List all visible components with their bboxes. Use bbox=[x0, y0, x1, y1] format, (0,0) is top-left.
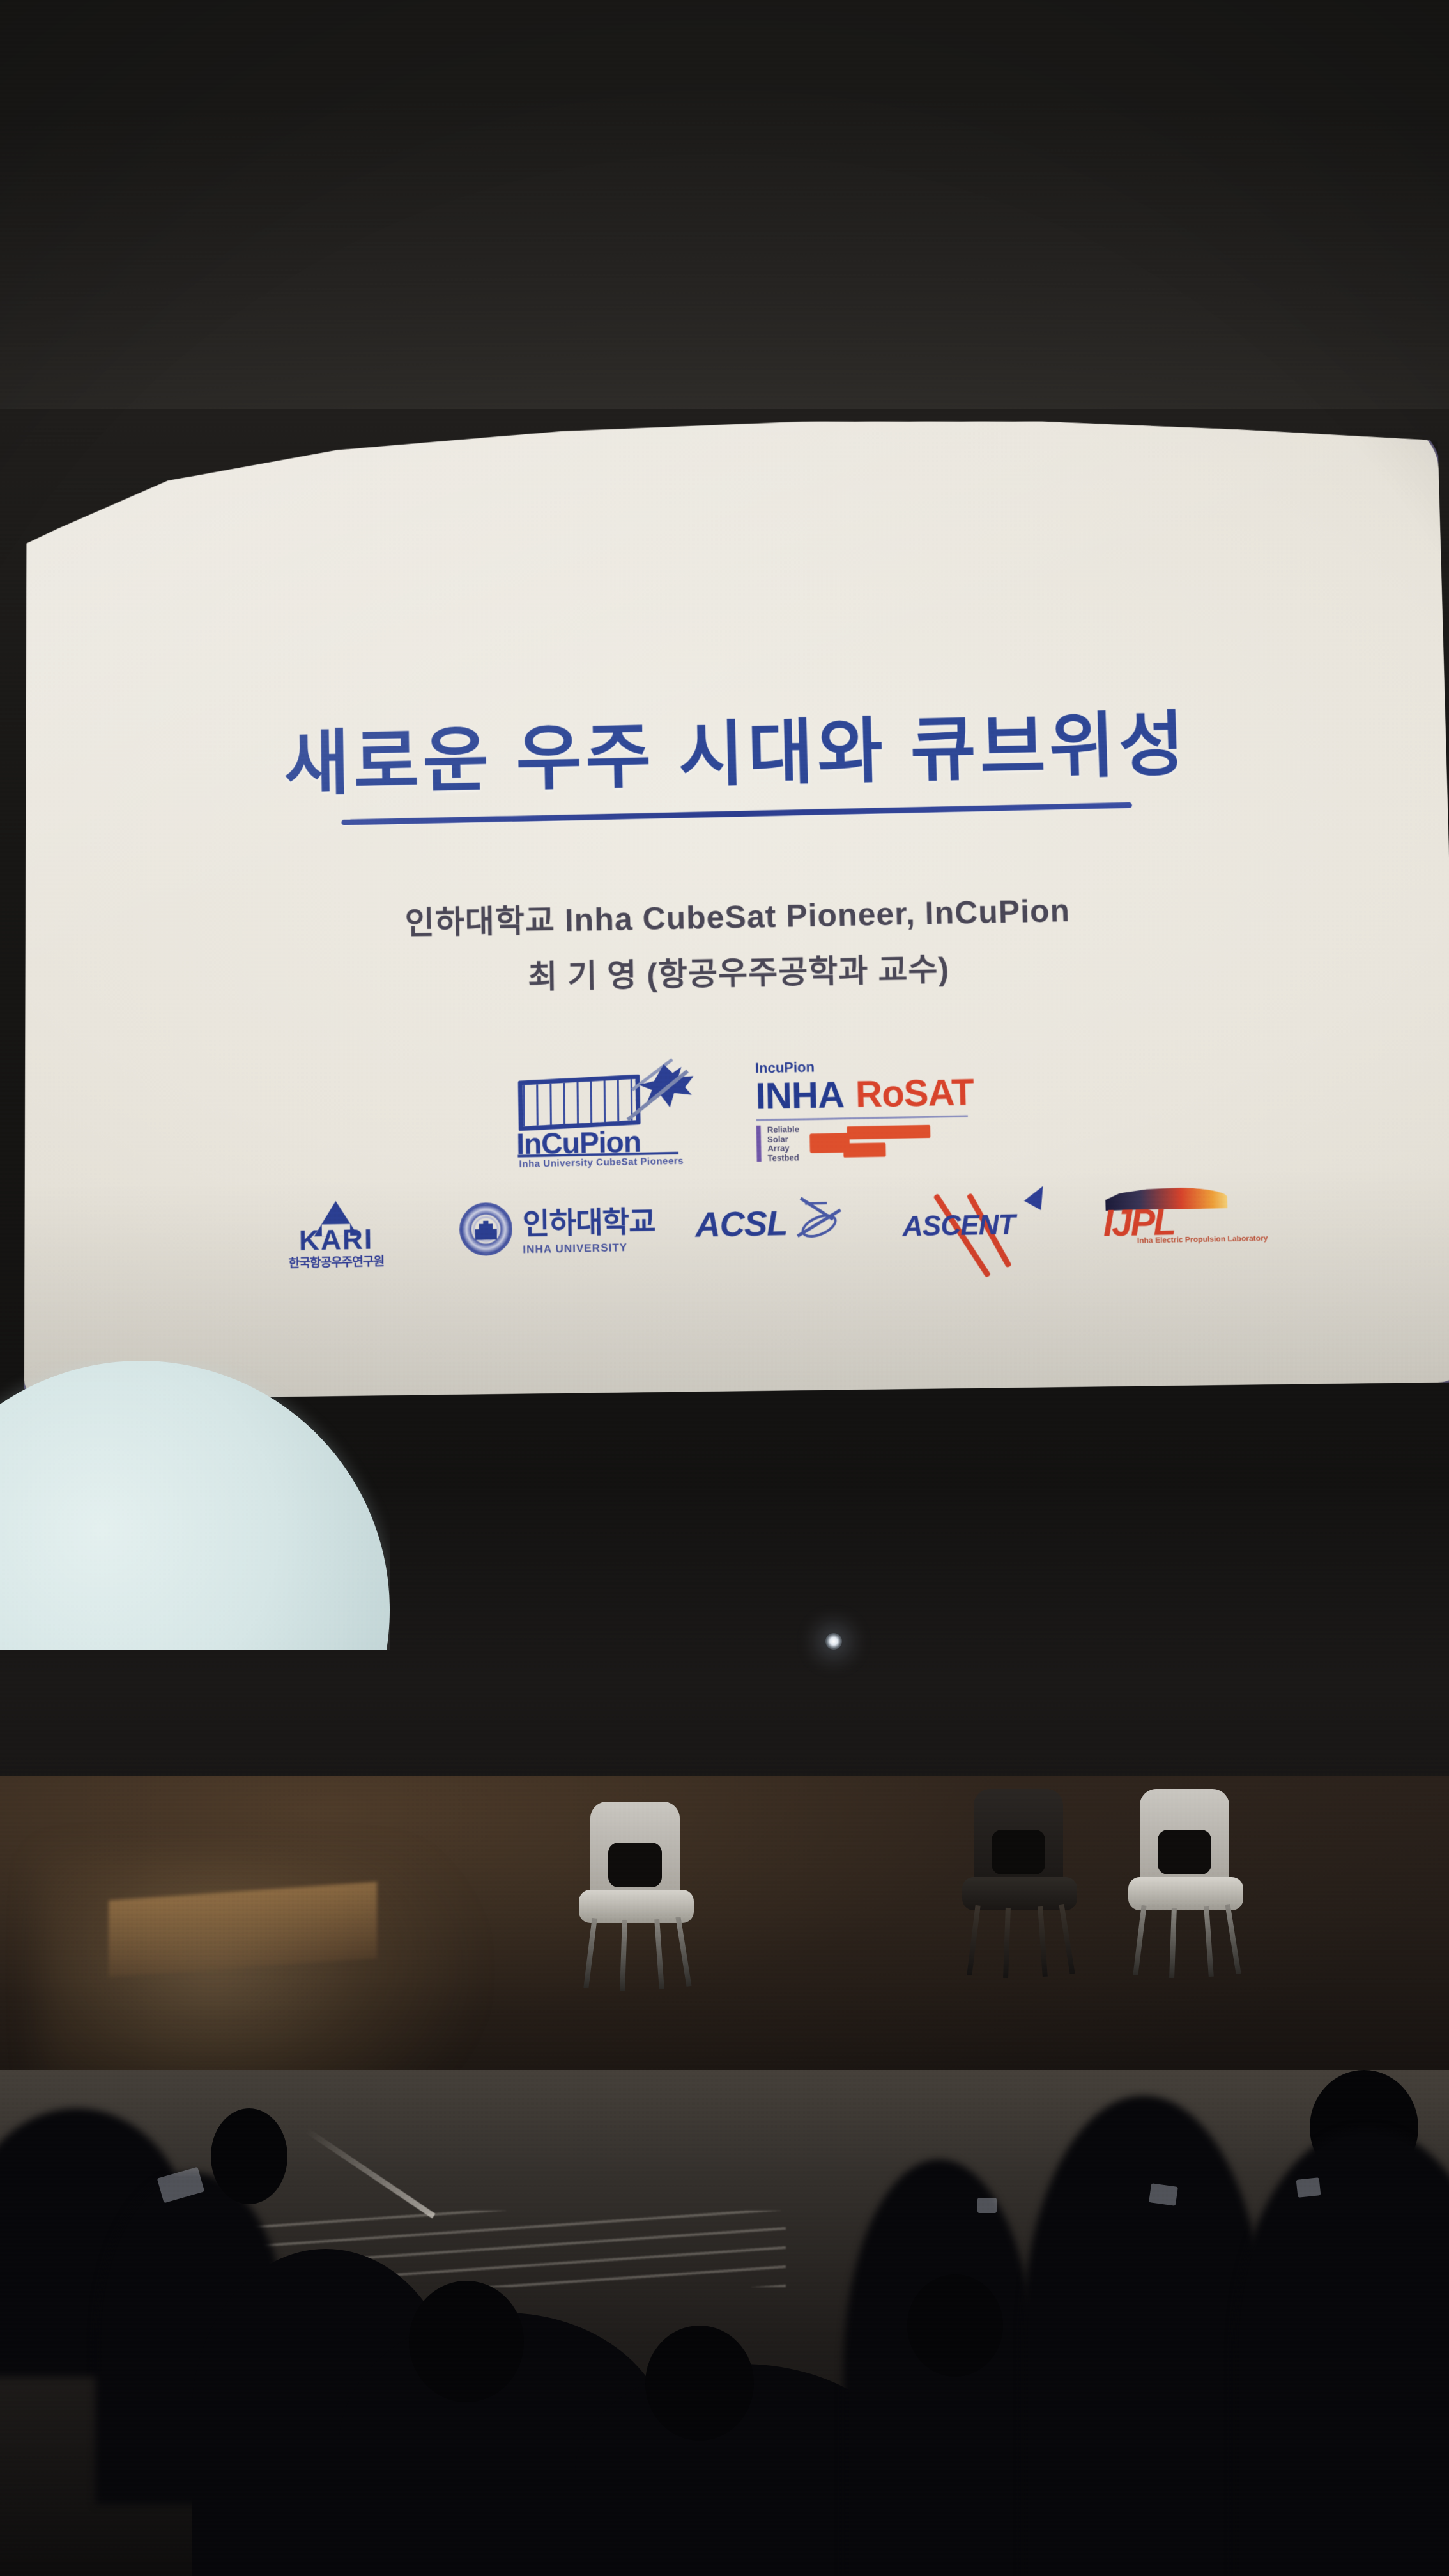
title-underline bbox=[341, 802, 1132, 825]
ascent-logo: ASCENT bbox=[901, 1188, 1064, 1251]
banner-footer2: 우주항공청 bbox=[0, 1967, 42, 1981]
acsl-wordmark: ACSL bbox=[694, 1203, 787, 1245]
incupion-tagline: Inha University CubeSat Pioneers bbox=[519, 1156, 684, 1170]
inha-rosat-logo: IncuPion INHA RoSAT Reliable Solar Array bbox=[755, 1056, 969, 1157]
slide-title: 새로운 우주 시대와 큐브위성 bbox=[284, 706, 1190, 803]
inha-university-logo: 인하대학교 INHA UNIVERSITY bbox=[459, 1198, 655, 1257]
rosat-satellite-icon bbox=[809, 1123, 932, 1161]
audience-head bbox=[907, 2274, 1003, 2377]
cabinet-power-led bbox=[256, 1596, 266, 1606]
wall-spot-light bbox=[825, 1633, 842, 1650]
banner-date: 11.22.SAT bbox=[0, 1744, 26, 1756]
partner-logo-row: KARI 한국항공우주연구원 인하대학교 INHA UNIVERSITY ACS… bbox=[252, 1184, 1232, 1265]
presenter-hair bbox=[256, 1656, 327, 1696]
cabinet-handle bbox=[80, 1584, 120, 1614]
main-logo-row: InCuPion Inha University CubeSat Pioneer… bbox=[512, 1056, 969, 1161]
banner-line2: TALK bbox=[0, 1659, 36, 1689]
inha-korean-name: 인하대학교 bbox=[522, 1198, 655, 1243]
audience-head bbox=[409, 2281, 524, 2402]
ijpl-logo: IJPL Inha Electric Propulsion Laboratory bbox=[1102, 1185, 1232, 1247]
poster-eyebrow: 누리호 4차 발사 성공 기념 bbox=[296, 1577, 441, 1591]
audience-phone bbox=[1296, 2177, 1321, 2198]
presenter-lapel-left bbox=[257, 1741, 286, 1845]
rosat-descriptor-0: Reliable bbox=[767, 1125, 799, 1135]
audience-head bbox=[211, 2108, 287, 2204]
projection-screen: 새로운 우주 시대와 큐브위성 인하대학교 Inha CubeSat Pione… bbox=[24, 412, 1449, 1400]
rosat-descriptor-3: Testbed bbox=[768, 1153, 800, 1163]
ascent-wordmark: ASCENT bbox=[902, 1209, 1015, 1243]
stage-chair-left bbox=[575, 1802, 696, 1981]
ijpl-tagline: Inha Electric Propulsion Laboratory bbox=[1137, 1234, 1268, 1245]
rosat-descriptor-2: Array bbox=[767, 1144, 799, 1153]
podium-body bbox=[273, 1843, 350, 1912]
rosat-descriptor-1: Solar bbox=[767, 1134, 799, 1144]
banner-footer1: 주최 · 주관 bbox=[0, 1935, 28, 1949]
kari-logo: KARI 한국항공우주연구원 bbox=[252, 1199, 420, 1264]
audience-silhouette bbox=[1022, 2096, 1265, 2576]
podium-stem bbox=[295, 1904, 310, 2051]
acsl-logo: ACSL bbox=[694, 1196, 862, 1251]
ascent-rocket-icon bbox=[1023, 1181, 1051, 1210]
inha-english-name: INHA UNIVERSITY bbox=[523, 1241, 655, 1256]
podium-base bbox=[254, 2042, 356, 2067]
projection-screen-area: 새로운 우주 시대와 큐브위성 인하대학교 Inha CubeSat Pione… bbox=[0, 390, 1449, 1393]
presentation-slide: 새로운 우주 시대와 큐브위성 인하대학교 Inha CubeSat Pione… bbox=[24, 412, 1449, 1400]
loudspeaker-icon bbox=[55, 1655, 162, 1762]
audience-phone bbox=[1149, 2183, 1178, 2206]
stage-chair-right bbox=[1124, 1789, 1246, 1968]
rosat-descriptor: Reliable Solar Array Testbed bbox=[767, 1125, 800, 1163]
stage-chair-middle bbox=[958, 1789, 1080, 1968]
rosat-word-inha: INHA bbox=[755, 1073, 845, 1118]
cabinet-panel bbox=[141, 1605, 170, 1627]
slide-subtitle: 인하대학교 Inha CubeSat Pioneer, InCuPion 최 기… bbox=[405, 883, 1073, 1008]
rosat-accent-bar bbox=[756, 1126, 762, 1162]
banner-line3: CONCERT bbox=[0, 1693, 40, 1709]
rosat-descriptor-block: Reliable Solar Array Testbed bbox=[756, 1122, 969, 1163]
acsl-orbit-icon bbox=[790, 1199, 847, 1246]
auditorium-photo: 새로운 우주 시대와 큐브위성 인하대학교 Inha CubeSat Pione… bbox=[0, 0, 1449, 2576]
incupion-logo: InCuPion Inha University CubeSat Pioneer… bbox=[512, 1061, 707, 1161]
rosat-word-rosat: RoSAT bbox=[855, 1071, 974, 1116]
kari-korean-name: 한국항공우주연구원 bbox=[252, 1251, 420, 1271]
inha-wordmark-block: 인하대학교 INHA UNIVERSITY bbox=[522, 1198, 655, 1256]
inha-seal-icon bbox=[459, 1202, 512, 1256]
audience-phone bbox=[977, 2198, 997, 2213]
audience-head bbox=[645, 2326, 754, 2441]
solar-panel-icon bbox=[518, 1074, 641, 1131]
rosat-wordmark: INHA RoSAT bbox=[755, 1071, 968, 1118]
